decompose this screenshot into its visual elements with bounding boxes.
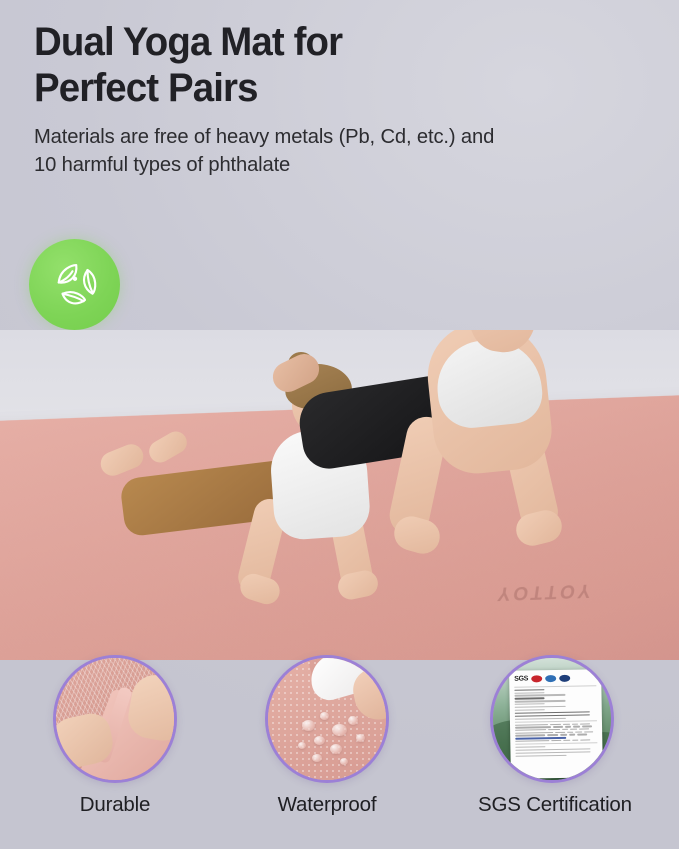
document-text-line [516, 755, 567, 757]
feature-image-durable [53, 655, 177, 783]
page-subtitle: Materials are free of heavy metals (Pb, … [34, 123, 645, 178]
eco-leaves-icon [29, 239, 120, 330]
feature-image-sgs: SGS [490, 655, 614, 783]
document-heading-line [515, 711, 590, 714]
page-title: Dual Yoga Mat for Perfect Pairs [34, 20, 629, 111]
document-header: SGS [514, 674, 596, 682]
feature-sgs-certification: SGS [482, 655, 622, 817]
water-droplet [298, 742, 306, 749]
feature-caption-sgs: SGS Certification [478, 793, 622, 817]
product-infographic: Dual Yoga Mat for Perfect Pairs Material… [0, 0, 679, 849]
feature-row: Durable Waterproof [0, 655, 679, 849]
document-text-line [515, 709, 545, 711]
table-row [515, 734, 597, 737]
red-badge-icon [531, 675, 542, 682]
feature-waterproof: Waterproof [257, 655, 397, 817]
water-droplet [348, 716, 358, 725]
document-text-line [515, 706, 566, 708]
divider [515, 720, 597, 722]
headline-line-1: Dual Yoga Mat for [34, 20, 629, 66]
water-droplet [320, 712, 329, 720]
water-droplet [302, 720, 315, 731]
document-text-line [515, 751, 590, 754]
document-text-line [515, 737, 566, 739]
subline-line-2: 10 harmful types of phthalate [34, 151, 645, 179]
water-droplet [340, 758, 348, 765]
divider [514, 685, 596, 687]
feature-image-waterproof [265, 655, 389, 783]
water-droplet [356, 734, 365, 742]
document-text-line [515, 746, 545, 748]
document-text-line [514, 694, 565, 696]
header: Dual Yoga Mat for Perfect Pairs Material… [34, 20, 654, 179]
sgs-logo: SGS [514, 675, 528, 682]
water-droplet [314, 736, 325, 745]
feature-durable: Durable [45, 655, 185, 817]
sgs-test-report-document: SGS [509, 669, 603, 779]
navy-badge-icon [559, 675, 570, 682]
feature-caption-waterproof: Waterproof [257, 793, 397, 817]
water-droplet [312, 754, 322, 762]
water-droplet [330, 744, 342, 754]
divider [515, 743, 597, 745]
document-text-line [514, 689, 544, 691]
document-text-line [514, 692, 544, 694]
subline-line-1: Materials are free of heavy metals (Pb, … [34, 123, 645, 151]
document-text-line [515, 717, 566, 719]
mat-brand-logo: YOTTOY [494, 578, 593, 603]
hero-product-photo: YOTTOY [0, 330, 679, 660]
document-text-line [515, 703, 545, 705]
water-droplet [332, 724, 347, 736]
feature-caption-durable: Durable [45, 793, 185, 817]
document-text-line [515, 698, 545, 700]
blue-badge-icon [545, 675, 556, 682]
document-text-line [515, 700, 566, 702]
table-row [515, 739, 597, 742]
document-heading-line [515, 714, 590, 717]
headline-line-2: Perfect Pairs [34, 66, 629, 112]
